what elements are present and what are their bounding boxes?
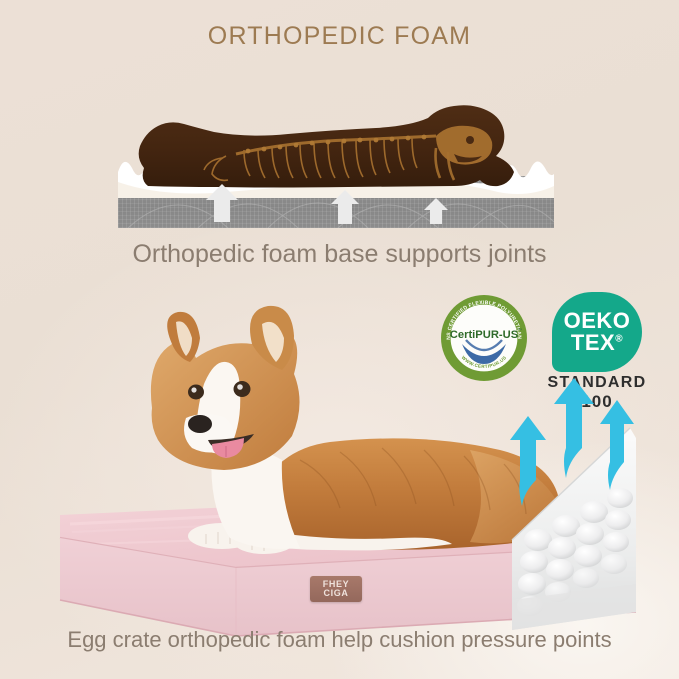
brand-line-2: CIGA [324, 589, 349, 598]
caption-egg-crate: Egg crate orthopedic foam help cushion p… [0, 627, 679, 653]
dog-on-pet-bed-photo [0, 300, 679, 679]
brand-label: FHEY CIGA [310, 576, 362, 602]
caption-orthopedic-base: Orthopedic foam base supports joints [0, 240, 679, 269]
support-arrow-1 [206, 184, 238, 222]
page-title: ORTHOPEDIC FOAM [0, 22, 679, 51]
orthopedic-foam-cutaway [118, 88, 554, 228]
airflow-arrow-2 [554, 378, 594, 478]
support-arrows [118, 176, 554, 228]
infographic-page: ORTHOPEDIC FOAM [0, 0, 679, 679]
support-arrow-3 [424, 198, 448, 224]
support-arrow-2 [331, 190, 359, 224]
